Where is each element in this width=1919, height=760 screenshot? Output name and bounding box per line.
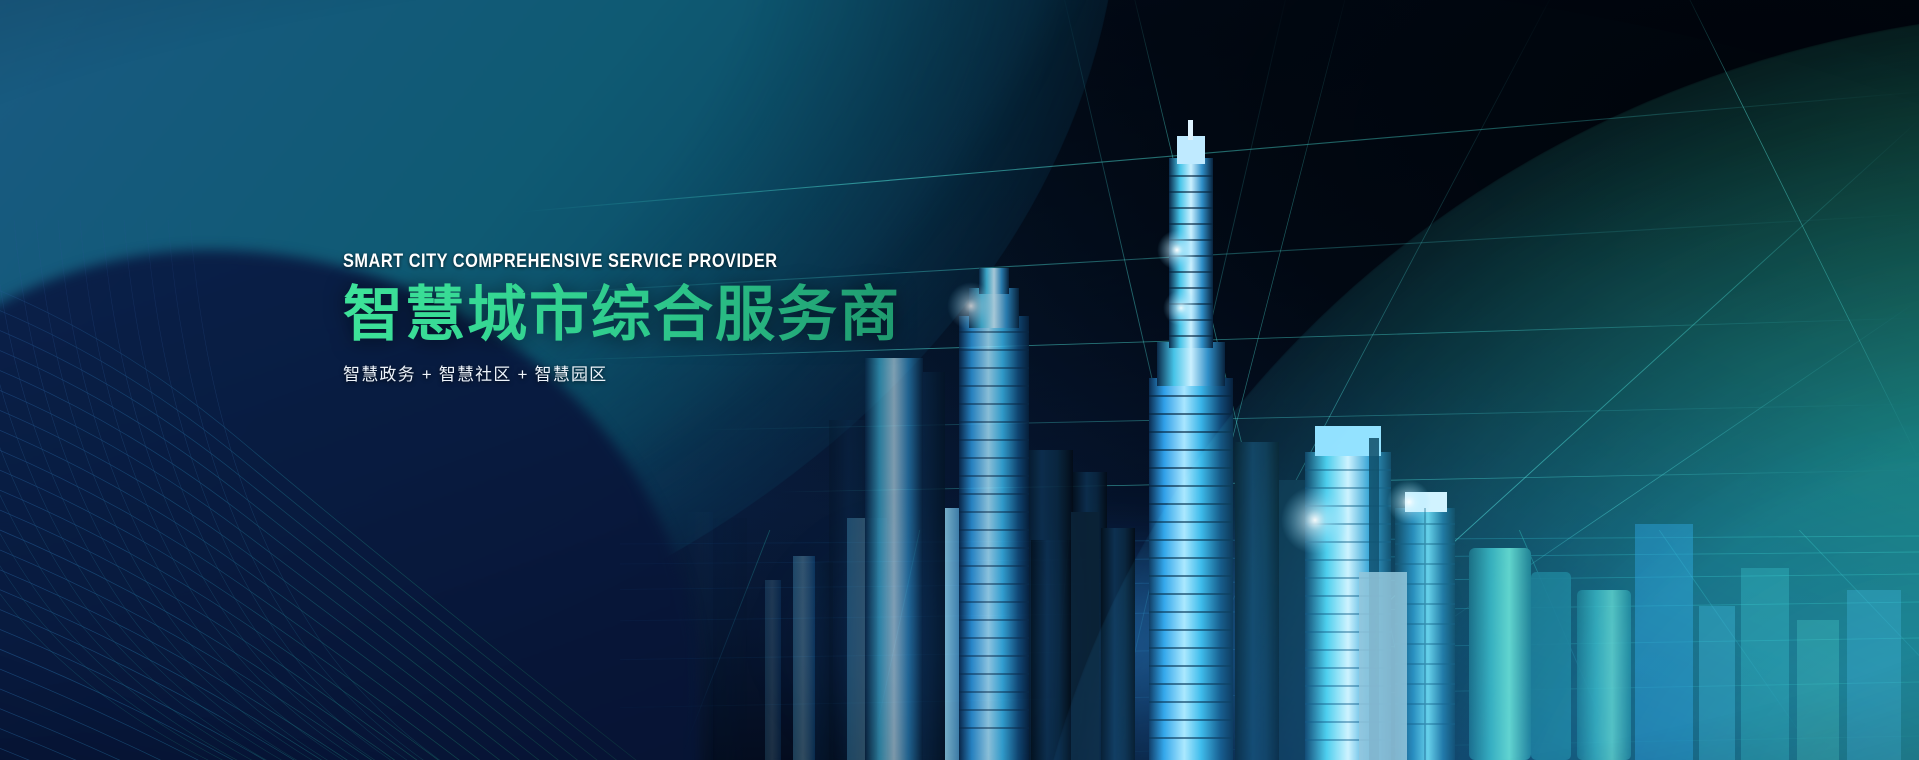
hero-copy-block: SMART CITY COMPREHENSIVE SERVICE PROVIDE… <box>343 252 983 385</box>
hero-headline-chinese: 智慧城市综合服务商 <box>343 283 983 346</box>
hero-eyebrow-english: SMART CITY COMPREHENSIVE SERVICE PROVIDE… <box>343 252 893 271</box>
hero-banner: SMART CITY COMPREHENSIVE SERVICE PROVIDE… <box>0 0 1919 760</box>
hero-subline-services: 智慧政务 + 智慧社区 + 智慧园区 <box>343 360 983 385</box>
